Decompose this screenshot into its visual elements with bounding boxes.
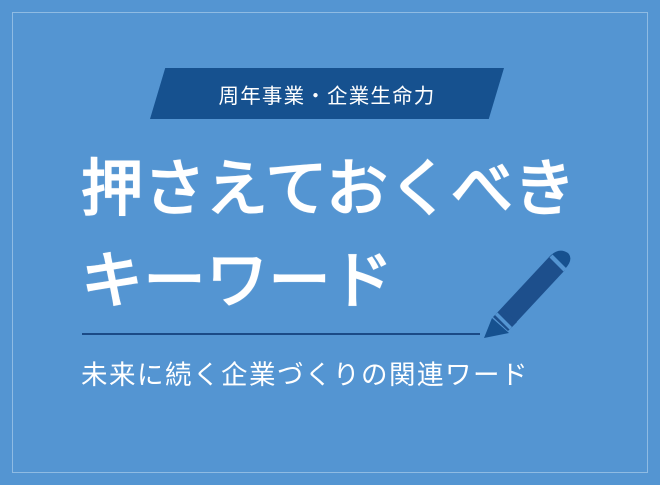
- badge-label: 周年事業・企業生命力: [150, 68, 504, 119]
- category-badge: 周年事業・企業生命力: [150, 68, 504, 119]
- pencil-icon: [462, 248, 574, 340]
- underline-rule: [82, 333, 480, 335]
- keyword-banner: 周年事業・企業生命力 押さえておくべき キーワード 未来に続く企業づくりの関連ワ…: [0, 0, 660, 485]
- headline-line-1: 押さえておくべき: [81, 144, 581, 236]
- subtitle: 未来に続く企業づくりの関連ワード: [81, 353, 601, 397]
